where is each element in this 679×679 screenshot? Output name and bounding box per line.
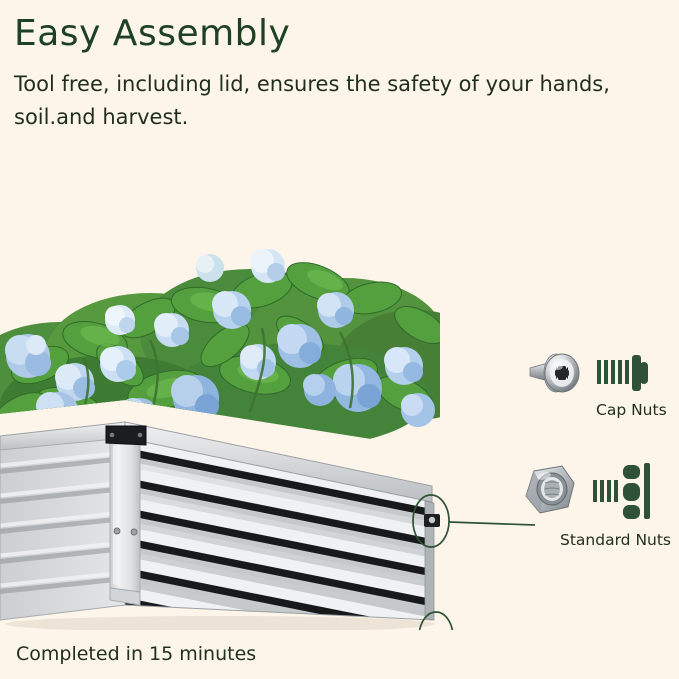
- bed-cap-nut-fitting: [424, 514, 440, 527]
- washer-bar: [644, 463, 650, 519]
- callout-label-cap-nuts: Cap Nuts: [596, 401, 667, 419]
- leader-line-cap-nuts: [449, 522, 535, 525]
- cap-nut-screw-photo: [528, 348, 584, 400]
- page-subtitle: Tool free, including lid, ensures the sa…: [14, 68, 624, 134]
- standard-nut-diagram: [592, 460, 654, 522]
- cap-body: [632, 355, 648, 391]
- thread-bars: [597, 360, 629, 384]
- raised-garden-bed: [0, 422, 440, 630]
- hex-nut-photo: [518, 463, 576, 519]
- hydrangea-plants: [0, 249, 495, 455]
- hex-nut-outline: [623, 465, 640, 519]
- cap-nut-diagram: [596, 350, 652, 396]
- corner-bracket: [106, 426, 146, 445]
- corner-post: [106, 426, 146, 630]
- infographic-canvas: Easy Assembly Tool free, including lid, …: [0, 0, 679, 679]
- page-title: Easy Assembly: [14, 12, 290, 56]
- footer-caption: Completed in 15 minutes: [16, 643, 256, 665]
- thread-bars: [593, 480, 618, 502]
- callout-label-standard-nuts: Standard Nuts: [560, 531, 671, 549]
